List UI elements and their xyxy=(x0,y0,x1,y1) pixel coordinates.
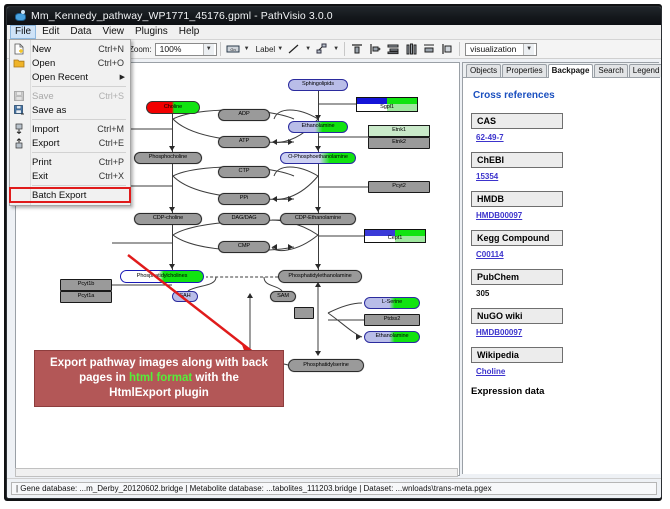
node-label: L-Serine xyxy=(382,300,402,306)
same-width-icon[interactable] xyxy=(422,42,436,56)
arrow-icon xyxy=(356,334,361,340)
menu-item-batch-export[interactable]: Batch Export xyxy=(10,188,130,202)
tab-legend[interactable]: Legend xyxy=(629,64,662,77)
visualization-value: visualization xyxy=(470,44,516,54)
gene-label: Pcyt1a xyxy=(78,294,95,300)
menu-item-open-recent[interactable]: Open Recent ▶ xyxy=(10,70,130,84)
db-header-hmdb: HMDB xyxy=(471,191,563,207)
menu-item-import[interactable]: Import Ctrl+M xyxy=(10,122,130,136)
distribute-horizontal-icon[interactable] xyxy=(386,42,400,56)
node-ppi[interactable]: PPi xyxy=(218,193,270,205)
gene-ptdss2[interactable]: Ptdss2 xyxy=(364,314,420,326)
arrow-icon xyxy=(288,139,293,145)
menu-item-print[interactable]: Print Ctrl+P xyxy=(10,155,130,169)
gene-label: Pcyt1b xyxy=(78,282,95,288)
arrow-icon xyxy=(288,196,293,202)
db-name: HMDB xyxy=(477,194,504,204)
node-label: Phosphatidylserine xyxy=(303,363,348,369)
node-ethanolamine-lower[interactable]: Ethanolamine xyxy=(364,331,420,343)
db-link-chebi[interactable]: 15354 xyxy=(476,172,652,181)
node-label: Phosphocholine xyxy=(149,155,187,161)
tab-backpage[interactable]: Backpage xyxy=(548,64,594,78)
menu-item-save-as[interactable]: Save as xyxy=(10,103,130,117)
toolbar-separator xyxy=(220,42,221,56)
menu-item-save-label: Save xyxy=(32,91,99,102)
arrow-icon xyxy=(247,293,253,298)
pathvisio-window: Mm_Kennedy_pathway_WP1771_45176.gpml - P… xyxy=(6,6,662,499)
side-panel-tabs[interactable]: Objects Properties Backpage Search Legen… xyxy=(463,63,660,78)
file-menu-dropdown[interactable]: New Ctrl+N Open Ctrl+O Open Recent ▶ xyxy=(9,39,131,206)
menu-item-exit-accel: Ctrl+X xyxy=(99,171,130,181)
annotation-highlight: html format xyxy=(129,372,192,384)
db-header-wikipedia: Wikipedia xyxy=(471,347,563,363)
status-text: | Gene database: ...m_Derby_20120602.bri… xyxy=(16,484,492,493)
gene-pcyt2[interactable]: Pcyt2 xyxy=(368,181,430,193)
arrow-icon xyxy=(288,244,293,250)
node-label: Ethanolamine xyxy=(375,334,408,340)
zoom-label: Zoom: xyxy=(129,45,152,54)
folder-icon xyxy=(13,57,25,69)
menu-item-new-label: New xyxy=(32,44,98,55)
db-name: CAS xyxy=(477,116,496,126)
svg-text:Gn: Gn xyxy=(230,47,235,52)
align-top-icon[interactable] xyxy=(350,42,364,56)
gene-etnk2[interactable]: Etnk2 xyxy=(368,137,430,149)
menu-bar[interactable]: File Edit Data View Plugins Help xyxy=(7,25,661,40)
backpage-content: Cross references CAS 62-49-7 ChEBI 15354… xyxy=(463,78,660,474)
menu-item-open[interactable]: Open Ctrl+O xyxy=(10,56,130,70)
node-label: CDP-choline xyxy=(153,216,183,222)
datanode-icon[interactable]: Gn xyxy=(226,42,240,56)
zoom-combo[interactable]: 100% ▼ xyxy=(155,43,217,56)
cross-references-heading: Cross references xyxy=(473,90,652,101)
node-label: Choline xyxy=(164,105,182,111)
db-name: Kegg Compound xyxy=(477,233,550,243)
node-label: ADP xyxy=(238,112,249,118)
node-label: SAM xyxy=(277,294,289,300)
toolbar-separator xyxy=(459,42,460,56)
db-name: ChEBI xyxy=(477,155,504,165)
window-title: Mm_Kennedy_pathway_WP1771_45176.gpml - P… xyxy=(31,10,333,22)
gene-label: Cept1 xyxy=(365,236,425,242)
db-link-wikipedia[interactable]: Choline xyxy=(476,367,652,376)
menu-item-save-as-label: Save as xyxy=(32,105,124,116)
node-o-phosphoethanolamine[interactable]: O-Phosphoethanolamine xyxy=(280,152,356,164)
node-phosphocholine[interactable]: Phosphocholine xyxy=(134,152,202,164)
node-label: Phosphatidylethanolamine xyxy=(288,274,351,280)
node-label: CTP xyxy=(239,169,250,175)
gene-etnk1[interactable]: Etnk1 xyxy=(368,125,430,137)
menu-item-save[interactable]: Save Ctrl+S xyxy=(10,89,130,103)
db-header-cas: CAS xyxy=(471,113,563,129)
annotation-line1: Export pathway images along with back xyxy=(50,357,268,369)
annotation-callout: Export pathway images along with back pa… xyxy=(34,350,284,407)
chevron-down-icon[interactable]: ▼ xyxy=(203,44,214,55)
menu-item-open-recent-label: Open Recent xyxy=(32,72,130,83)
pathvisio-icon xyxy=(14,10,26,22)
menu-item-exit-label: Exit xyxy=(32,171,99,182)
db-name: Wikipedia xyxy=(477,350,519,360)
db-value-pubchem: 305 xyxy=(476,289,652,298)
db-header-kegg-compound: Kegg Compound xyxy=(471,230,563,246)
node-dag[interactable]: DAG/DAG xyxy=(218,213,270,225)
db-link-nugo-wiki[interactable]: HMDB00097 xyxy=(476,328,652,337)
node-label: SAH xyxy=(179,294,190,300)
db-header-pubchem: PubChem xyxy=(471,269,563,285)
menu-item-import-label: Import xyxy=(32,124,97,135)
import-icon xyxy=(13,123,25,135)
save-as-icon xyxy=(13,104,25,116)
label-dropdown-icon[interactable]: ▼ xyxy=(277,46,283,52)
new-file-icon xyxy=(13,43,25,55)
menu-view[interactable]: View xyxy=(97,25,129,39)
gene-pcyt1a[interactable]: Pcyt1a xyxy=(60,291,112,303)
node-sam[interactable]: SAM xyxy=(270,291,296,302)
menu-separator xyxy=(32,119,126,120)
menu-data[interactable]: Data xyxy=(65,25,96,39)
menu-edit[interactable]: Edit xyxy=(37,25,64,39)
interaction-dropdown-icon[interactable]: ▼ xyxy=(333,46,339,52)
zoom-value: 100% xyxy=(160,44,182,54)
menu-item-save-accel: Ctrl+S xyxy=(99,91,130,101)
arrow-icon xyxy=(272,196,277,202)
gene-box-partial[interactable] xyxy=(294,307,314,319)
gene-sgpl1[interactable]: Sgpl1 xyxy=(356,97,418,112)
arrow-icon xyxy=(272,244,277,250)
menu-item-export[interactable]: Export Ctrl+E xyxy=(10,136,130,150)
menu-item-print-label: Print xyxy=(32,157,99,168)
visualization-combo[interactable]: visualization ▼ xyxy=(465,43,537,56)
gene-cept1[interactable]: Cept1 xyxy=(364,229,426,243)
gene-label: Sgpl1 xyxy=(357,104,417,111)
node-cdp-ethanolamine[interactable]: CDP-Ethanolamine xyxy=(280,213,356,225)
menu-item-print-accel: Ctrl+P xyxy=(99,157,130,167)
gene-pcyt1b[interactable]: Pcyt1b xyxy=(60,279,112,291)
node-label: ATP xyxy=(239,139,249,145)
node-sphingolipids[interactable]: Sphingolipids xyxy=(288,79,348,91)
node-label: DAG/DAG xyxy=(231,216,256,222)
node-label: CDP-Ethanolamine xyxy=(295,216,341,222)
tab-search[interactable]: Search xyxy=(594,64,627,77)
menu-plugins[interactable]: Plugins xyxy=(130,25,173,39)
menu-item-exit[interactable]: Exit Ctrl+X xyxy=(10,169,130,183)
node-sah[interactable]: SAH xyxy=(172,291,198,302)
title-bar: Mm_Kennedy_pathway_WP1771_45176.gpml - P… xyxy=(7,7,661,25)
menu-item-export-accel: Ctrl+E xyxy=(99,138,130,148)
node-label: Phosphatidylcholines xyxy=(137,274,188,280)
menu-item-new[interactable]: New Ctrl+N xyxy=(10,42,130,56)
line-dropdown-icon[interactable]: ▼ xyxy=(305,46,311,52)
db-header-nugo-wiki: NuGO wiki xyxy=(471,308,563,324)
menu-item-open-accel: Ctrl+O xyxy=(98,58,130,68)
node-l-serine[interactable]: L-Serine xyxy=(364,297,420,309)
export-icon xyxy=(13,137,25,149)
status-bar: | Gene database: ...m_Derby_20120602.bri… xyxy=(7,478,661,498)
node-choline-top[interactable]: Choline xyxy=(146,101,200,114)
menu-item-export-label: Export xyxy=(32,138,99,149)
node-label: Ethanolamine xyxy=(301,124,334,130)
line-icon[interactable] xyxy=(287,42,301,56)
menu-item-open-label: Open xyxy=(32,58,98,69)
annotation-line3: HtmlExport plugin xyxy=(109,387,209,399)
screenshot-root: Mm_Kennedy_pathway_WP1771_45176.gpml - P… xyxy=(0,0,670,509)
status-bar-inner: | Gene database: ...m_Derby_20120602.bri… xyxy=(11,482,657,495)
node-adp[interactable]: ADP xyxy=(218,109,270,121)
expression-data-heading: Expression data xyxy=(471,386,652,397)
node-cdp-choline[interactable]: CDP-choline xyxy=(134,213,202,225)
node-label: CMP xyxy=(238,244,250,250)
menu-item-import-accel: Ctrl+M xyxy=(97,124,130,134)
menu-help[interactable]: Help xyxy=(174,25,205,39)
gene-label: Etnk1 xyxy=(392,128,406,134)
node-phosphatidylethanolamine[interactable]: Phosphatidylethanolamine xyxy=(278,270,362,283)
node-atp[interactable]: ATP xyxy=(218,136,270,148)
db-link-hmdb[interactable]: HMDB00097 xyxy=(476,211,652,220)
distribute-vertical-icon[interactable] xyxy=(404,42,418,56)
save-icon xyxy=(13,90,25,102)
align-left-icon[interactable] xyxy=(368,42,382,56)
node-phosphatidylserine[interactable]: Phosphatidylserine xyxy=(288,359,364,372)
menu-item-new-accel: Ctrl+N xyxy=(98,44,130,54)
gene-label: Pcyt2 xyxy=(392,184,406,190)
annotation-line2a: pages in xyxy=(79,372,129,384)
menu-separator xyxy=(32,152,126,153)
db-link-kegg-compound[interactable]: C00114 xyxy=(476,250,652,259)
menu-separator xyxy=(32,185,126,186)
annotation-line2b: with the xyxy=(192,372,239,384)
bring-front-icon[interactable] xyxy=(440,42,454,56)
node-cmp[interactable]: CMP xyxy=(218,241,270,253)
menu-separator xyxy=(32,86,126,87)
node-ctp[interactable]: CTP xyxy=(218,166,270,178)
node-label: O-Phosphoethanolamine xyxy=(288,155,348,161)
menu-item-batch-export-label: Batch Export xyxy=(32,190,130,201)
node-phosphatidylcholines[interactable]: Phosphatidylcholines xyxy=(120,270,204,283)
menu-file[interactable]: File xyxy=(10,25,36,39)
chevron-right-icon: ▶ xyxy=(120,73,125,81)
tab-objects[interactable]: Objects xyxy=(466,64,501,77)
side-panel: Objects Properties Backpage Search Legen… xyxy=(462,62,659,474)
node-label: PPi xyxy=(240,196,248,202)
db-link-cas[interactable]: 62-49-7 xyxy=(476,133,652,142)
interaction-icon[interactable] xyxy=(315,42,329,56)
tab-properties[interactable]: Properties xyxy=(502,64,546,77)
datanode-dropdown-icon[interactable]: ▼ xyxy=(244,46,250,52)
db-header-chebi: ChEBI xyxy=(471,152,563,168)
db-name: NuGO wiki xyxy=(477,311,523,321)
chevron-down-icon[interactable]: ▼ xyxy=(523,44,534,55)
arrow-icon xyxy=(315,351,321,356)
label-tool-label[interactable]: Label xyxy=(256,45,276,54)
arrow-icon xyxy=(272,139,277,145)
node-ethanolamine-upper[interactable]: Ethanolamine xyxy=(288,121,348,133)
gene-label: Etnk2 xyxy=(392,140,406,146)
toolbar-separator xyxy=(344,42,345,56)
db-name: PubChem xyxy=(477,272,519,282)
gene-label: Ptdss2 xyxy=(384,317,401,323)
node-label: Sphingolipids xyxy=(302,82,334,88)
canvas-horizontal-scrollbar[interactable] xyxy=(15,468,458,477)
